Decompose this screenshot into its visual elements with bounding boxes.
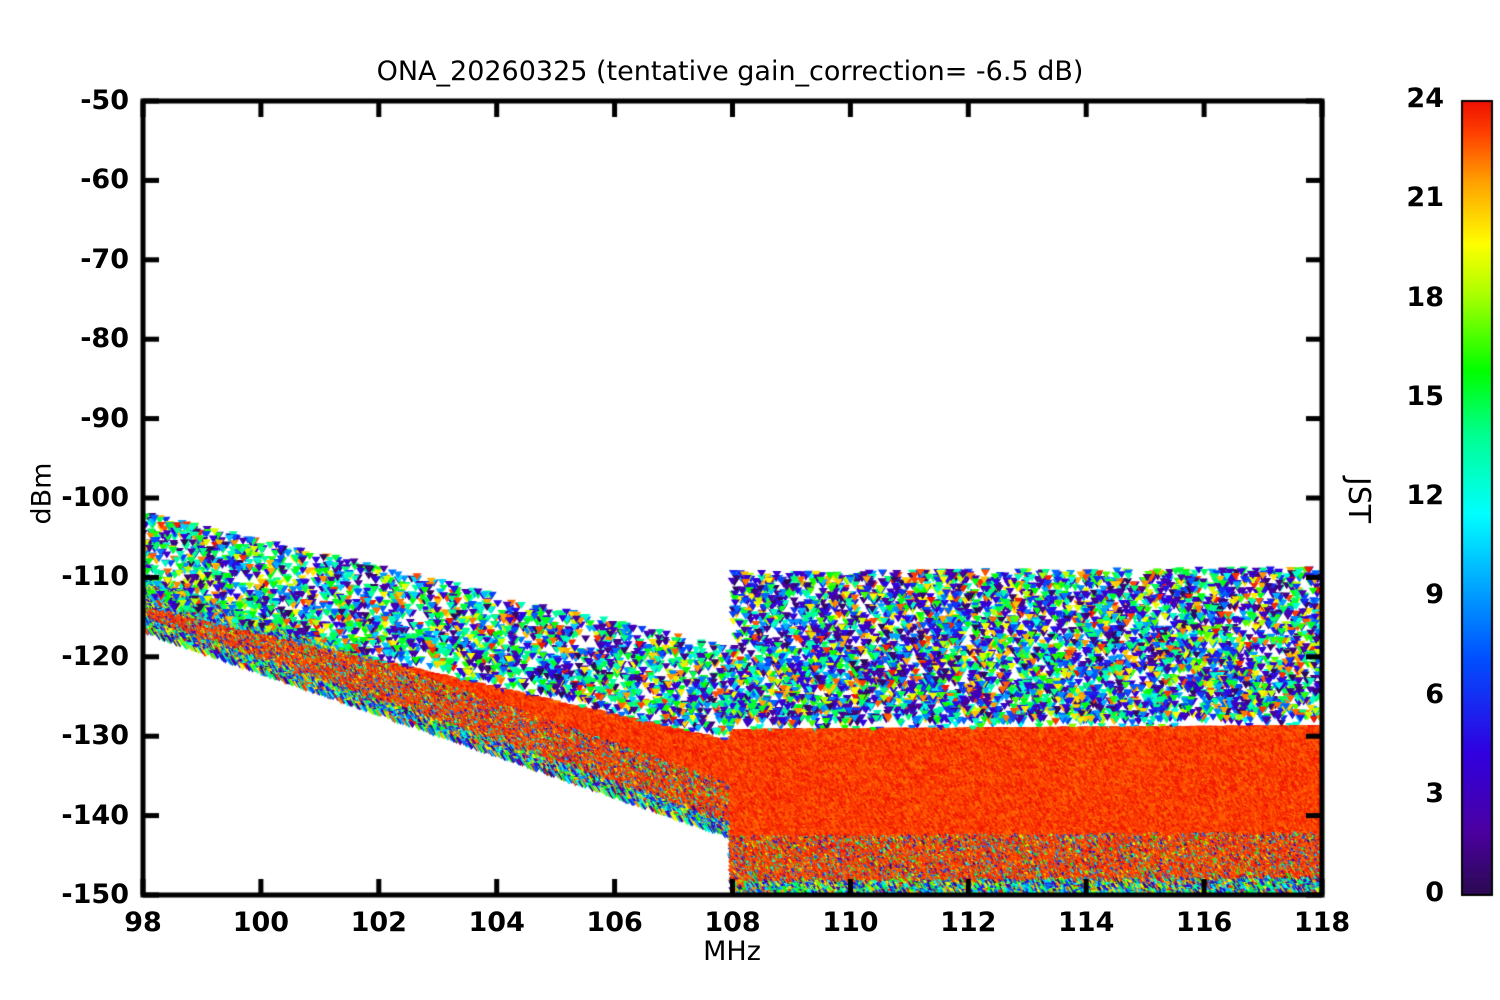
colorbar-tick-label-1: 3 bbox=[1354, 780, 1444, 807]
spectrum-scatter-canvas bbox=[0, 0, 1500, 1000]
y-tick-label-5: -100 bbox=[19, 484, 129, 511]
spectrum-plot-figure: ONA_20260325 (tentative gain_correction=… bbox=[0, 0, 1500, 1000]
y-tick-label-6: -110 bbox=[19, 563, 129, 590]
colorbar-tick-label-2: 6 bbox=[1354, 681, 1444, 708]
y-tick-label-9: -140 bbox=[19, 802, 129, 829]
colorbar-tick-label-6: 18 bbox=[1354, 284, 1444, 311]
x-tick-label-0: 98 bbox=[83, 909, 203, 936]
x-tick-label-9: 116 bbox=[1144, 909, 1264, 936]
colorbar-tick-label-5: 15 bbox=[1354, 383, 1444, 410]
x-tick-label-10: 118 bbox=[1262, 909, 1382, 936]
x-tick-label-8: 114 bbox=[1026, 909, 1146, 936]
y-tick-label-3: -80 bbox=[19, 325, 129, 352]
y-tick-label-10: -150 bbox=[19, 881, 129, 908]
colorbar-tick-label-3: 9 bbox=[1354, 581, 1444, 608]
colorbar-tick-label-4: 12 bbox=[1354, 482, 1444, 509]
colorbar-tick-label-7: 21 bbox=[1354, 184, 1444, 211]
colorbar-tick-label-0: 0 bbox=[1354, 879, 1444, 906]
x-tick-label-5: 108 bbox=[673, 909, 793, 936]
y-tick-label-0: -50 bbox=[19, 87, 129, 114]
x-tick-label-3: 104 bbox=[437, 909, 557, 936]
x-tick-label-6: 110 bbox=[790, 909, 910, 936]
x-axis-label: MHz bbox=[672, 938, 792, 965]
y-tick-label-2: -70 bbox=[19, 246, 129, 273]
y-tick-label-4: -90 bbox=[19, 405, 129, 432]
page-title: ONA_20260325 (tentative gain_correction=… bbox=[0, 58, 1460, 85]
x-tick-label-1: 100 bbox=[201, 909, 321, 936]
y-tick-label-7: -120 bbox=[19, 643, 129, 670]
y-tick-label-1: -60 bbox=[19, 166, 129, 193]
x-tick-label-7: 112 bbox=[908, 909, 1028, 936]
colorbar-tick-label-8: 24 bbox=[1354, 85, 1444, 112]
x-tick-label-2: 102 bbox=[319, 909, 439, 936]
x-tick-label-4: 106 bbox=[555, 909, 675, 936]
y-tick-label-8: -130 bbox=[19, 722, 129, 749]
